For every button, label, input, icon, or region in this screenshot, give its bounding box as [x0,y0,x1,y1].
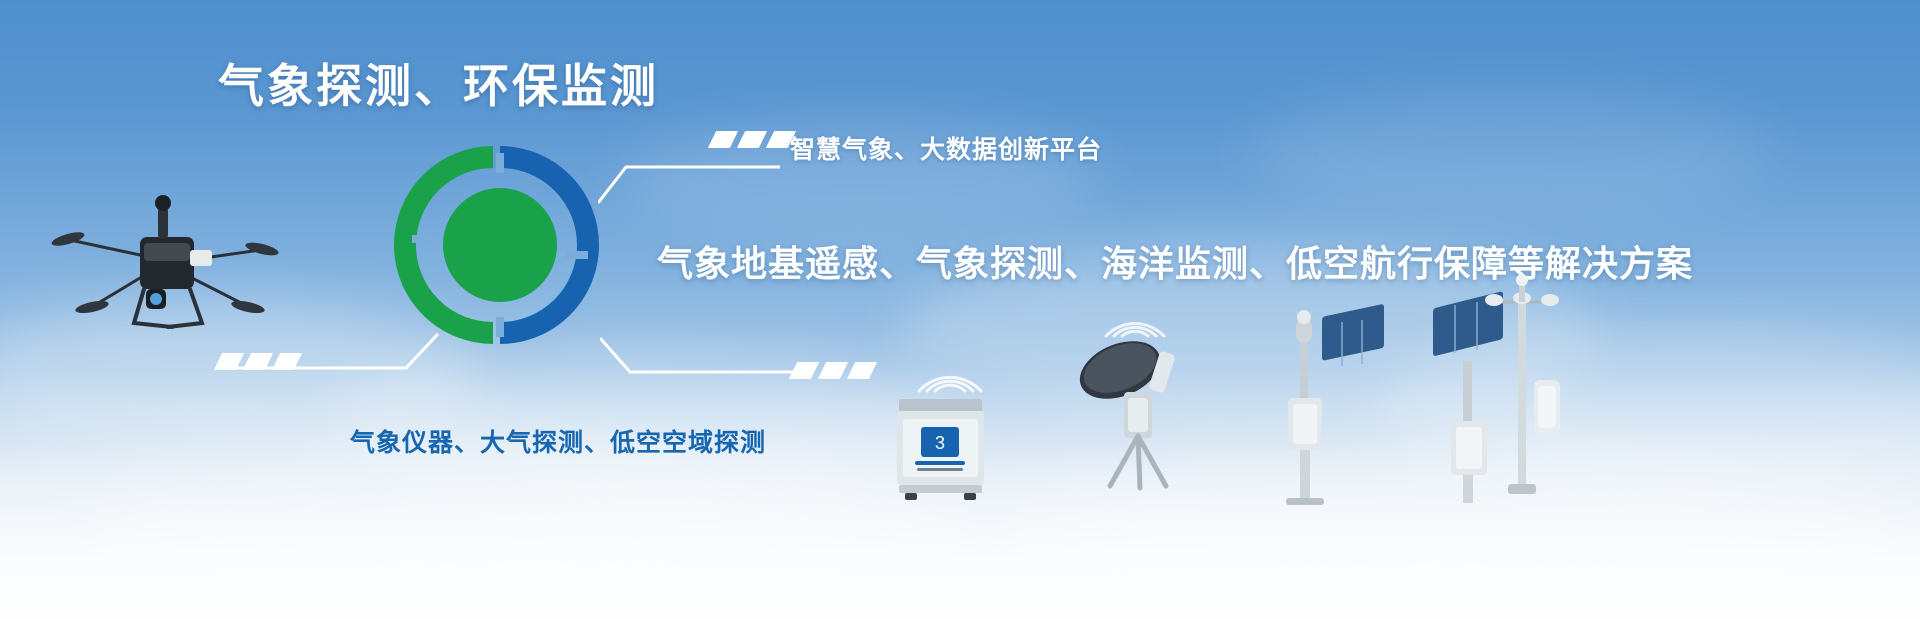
lidar-cabinet-illustration: 3 [893,393,988,501]
solar-weather-station-illustration [1270,300,1390,505]
anemometer-tower-illustration [1478,270,1568,505]
signal-waves-icon [905,345,995,395]
slash-marks-top [712,131,792,148]
ring-diagram [390,135,610,355]
slash-marks-bottom-left [218,353,298,370]
svg-text:3: 3 [935,433,945,453]
callout-top-text: 智慧气象、大数据创新平台 [790,130,1102,166]
weather-detection-banner: 气象探测、环保监测 [0,0,1920,619]
callout-bottom-text: 气象仪器、大气探测、低空空域探测 [350,423,766,459]
connector-line-bottom-right [600,330,830,390]
cloud-decoration [1250,90,1770,220]
satellite-dish-illustration [1068,330,1203,495]
connector-line-top [598,155,798,215]
page-title: 气象探测、环保监测 [218,50,659,116]
drone-illustration [40,155,290,340]
connector-line-bottom-left [210,330,440,410]
slash-marks-bottom-right [793,362,873,379]
